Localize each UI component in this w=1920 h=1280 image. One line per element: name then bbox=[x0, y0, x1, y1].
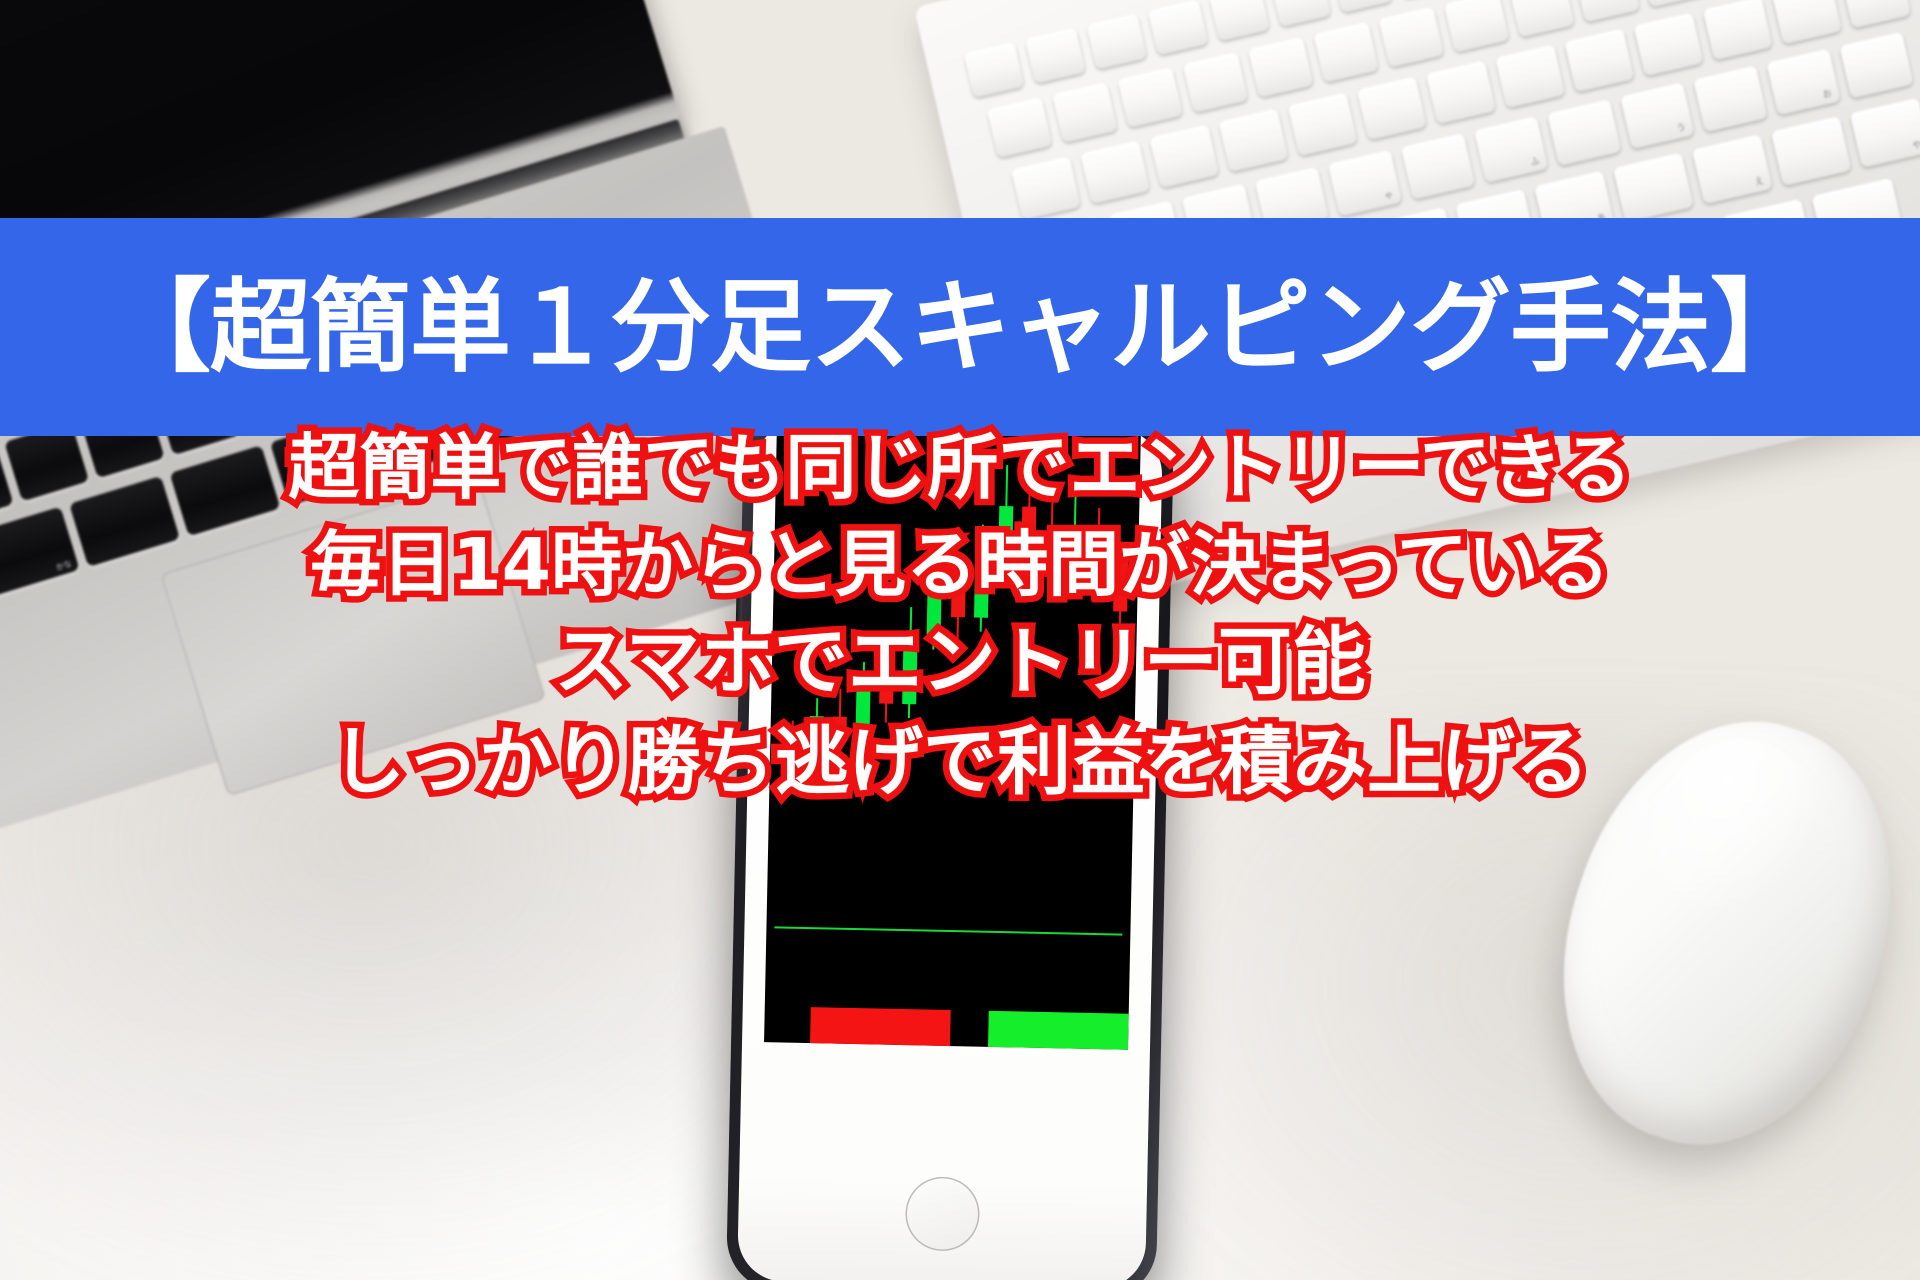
keyboard-key[interactable] bbox=[1401, 133, 1476, 200]
keyboard-key[interactable] bbox=[1149, 124, 1219, 188]
headline-line-3: スマホでエントリー可能 bbox=[554, 623, 1366, 703]
keyboard-key[interactable] bbox=[1564, 28, 1634, 92]
keyboard-key[interactable] bbox=[1332, 0, 1393, 13]
keyboard-key[interactable]: え bbox=[1692, 134, 1773, 204]
keyboard-key[interactable] bbox=[1209, 0, 1270, 41]
keyboard-key[interactable] bbox=[1248, 37, 1314, 98]
keyboard-key[interactable] bbox=[1640, 0, 1706, 7]
keyboard-key[interactable] bbox=[1772, 0, 1842, 44]
keyboard-key[interactable] bbox=[1080, 140, 1150, 204]
keyboard-key[interactable] bbox=[987, 97, 1053, 158]
keyboard-key[interactable] bbox=[1426, 60, 1496, 124]
buy-button[interactable]: BUY bbox=[808, 1007, 951, 1050]
keyboard-key[interactable] bbox=[1378, 6, 1444, 67]
keyboard-key[interactable] bbox=[1574, 0, 1640, 22]
sell-button[interactable]: SELL bbox=[986, 1011, 1129, 1050]
keyboard-key[interactable] bbox=[1703, 0, 1773, 60]
keyboard-key[interactable] bbox=[1841, 0, 1911, 29]
keyboard-key[interactable]: ふ bbox=[1474, 116, 1549, 183]
keyboard-key[interactable] bbox=[1771, 116, 1852, 186]
phone-home-button[interactable] bbox=[905, 1176, 981, 1252]
keyboard-key[interactable] bbox=[1117, 67, 1183, 128]
page-title: 【超簡単１分足スキャルピング手法】 bbox=[110, 277, 1810, 378]
headline-line-2: 毎日14時からと見る時間が決まっている bbox=[310, 527, 1609, 604]
keyboard-key[interactable] bbox=[963, 41, 1024, 98]
keyboard-key[interactable] bbox=[1547, 99, 1622, 166]
keyboard-key[interactable] bbox=[1839, 32, 1914, 99]
headline-line-4: しっかり勝ち逃げで利益を積み上げる bbox=[331, 723, 1589, 803]
keyboard-key[interactable] bbox=[1288, 92, 1358, 156]
headline-block: 超簡単で誰でも同じ所でエントリーできる 毎日14時からと見る時間が決まっている … bbox=[0, 430, 1920, 803]
trade-buttons: BUY SELL bbox=[764, 1006, 1129, 1050]
keyboard-key[interactable] bbox=[1495, 44, 1565, 108]
keyboard-key[interactable] bbox=[1633, 12, 1703, 76]
keyboard-key[interactable] bbox=[1693, 65, 1768, 132]
keyboard-key[interactable] bbox=[1313, 21, 1379, 82]
keyboard-key[interactable]: う bbox=[1620, 82, 1695, 149]
keyboard-key[interactable] bbox=[1025, 27, 1086, 84]
keyboard-key[interactable]: お bbox=[1766, 48, 1841, 115]
headline-line-1: 超簡単で誰でも同じ所でエントリーできる bbox=[288, 430, 1631, 507]
keyboard-key[interactable] bbox=[1509, 0, 1575, 38]
keyboard-key[interactable] bbox=[1444, 0, 1510, 53]
keyboard-key[interactable]: ゃ bbox=[1328, 150, 1403, 217]
title-banner: 【超簡単１分足スキャルピング手法】 bbox=[0, 218, 1920, 436]
keyboard-key[interactable] bbox=[1357, 76, 1427, 140]
keyboard-key[interactable] bbox=[1052, 82, 1118, 143]
keyboard-key[interactable] bbox=[1011, 156, 1081, 220]
poster-canvas: BこNみMもinかな んえゃふうおlnしりぬあえやえゃふうお BUY SELL bbox=[0, 0, 1920, 1280]
keyboard-key[interactable]: や bbox=[1850, 98, 1920, 168]
keyboard-key[interactable] bbox=[1270, 0, 1331, 27]
keyboard-key[interactable] bbox=[1183, 52, 1249, 113]
keyboard-key[interactable] bbox=[1086, 13, 1147, 70]
keyboard-key[interactable] bbox=[1613, 152, 1694, 222]
keyboard-key[interactable] bbox=[1218, 108, 1288, 172]
keyboard-key[interactable] bbox=[1148, 0, 1209, 55]
